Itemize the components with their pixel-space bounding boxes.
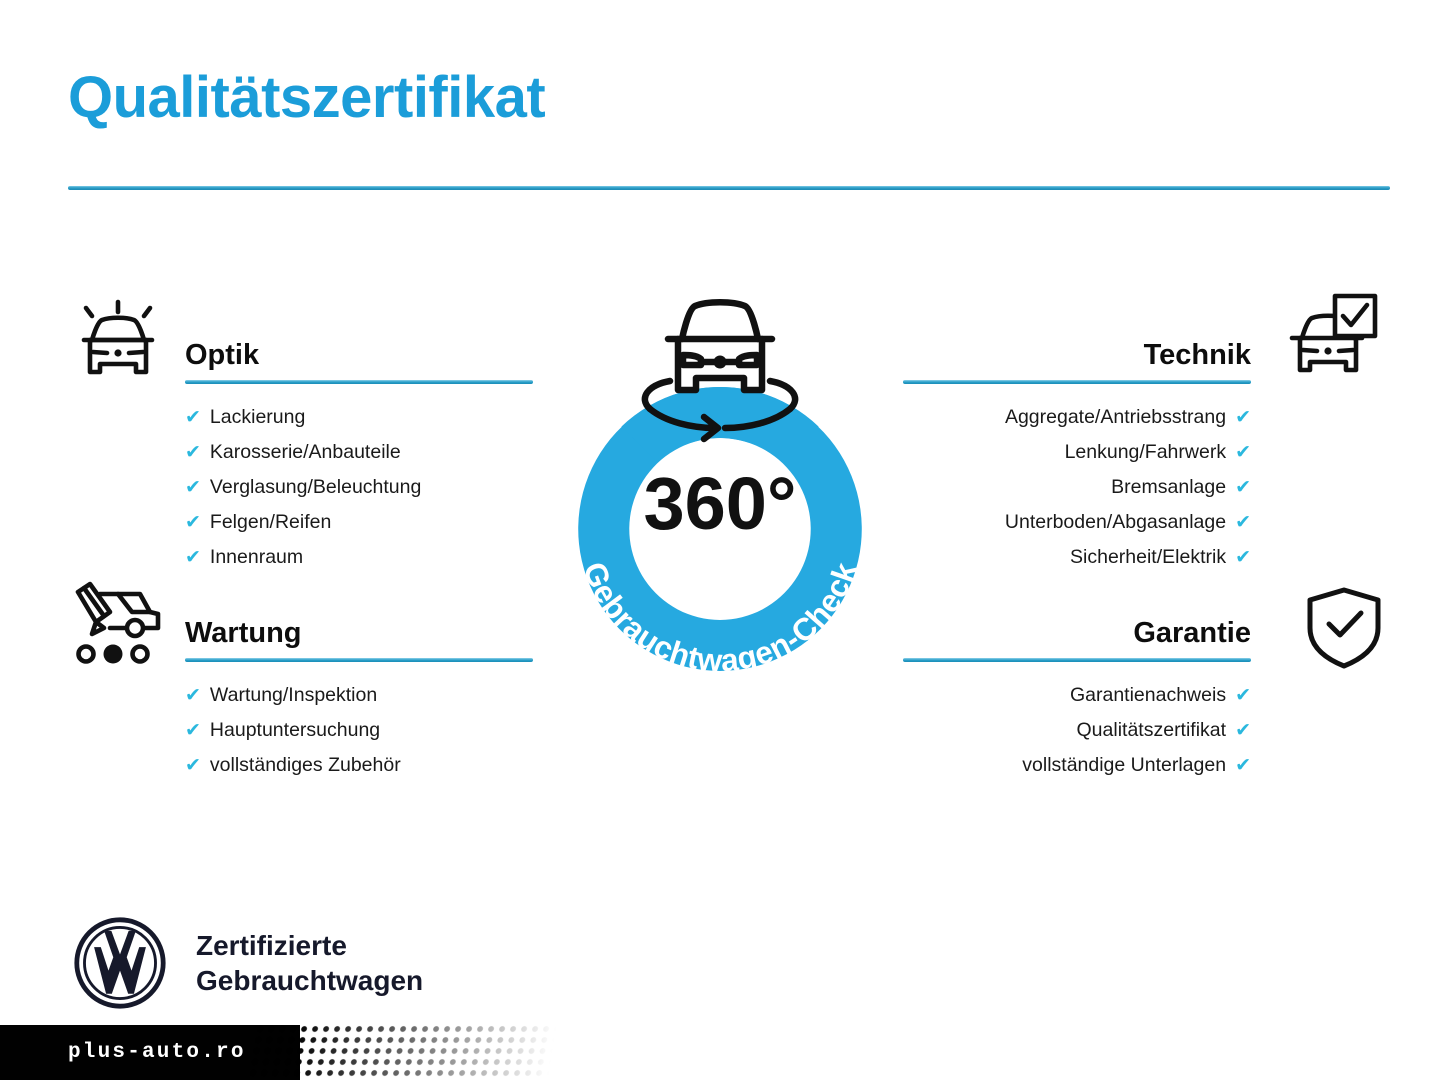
check-icon: ✔	[185, 471, 201, 505]
list-item: Aggregate/Antriebsstrang✔	[903, 400, 1251, 435]
list-item: ✔Innenraum	[185, 540, 533, 575]
page-title: Qualitätszertifikat	[68, 68, 545, 129]
list-item-label: vollständiges Zubehör	[210, 754, 401, 776]
section-divider	[185, 380, 533, 384]
list-item-label: Lenkung/Fahrwerk	[1065, 441, 1227, 463]
check-icon: ✔	[185, 436, 201, 470]
section-header: Technik	[903, 330, 1251, 384]
list-item: Lenkung/Fahrwerk✔	[903, 435, 1251, 470]
list-item: ✔Hauptuntersuchung	[185, 713, 533, 748]
list-item: ✔Wartung/Inspektion	[185, 678, 533, 713]
section-title: Garantie	[1133, 619, 1251, 648]
section-divider	[903, 380, 1251, 384]
header-divider	[68, 186, 1390, 190]
check-icon: ✔	[1235, 471, 1251, 505]
checklist-wartung: ✔Wartung/Inspektion ✔Hauptuntersuchung ✔…	[185, 662, 533, 783]
list-item: ✔Lackierung	[185, 400, 533, 435]
check-icon: ✔	[185, 401, 201, 435]
check-icon: ✔	[185, 714, 201, 748]
check-icon: ✔	[185, 506, 201, 540]
list-item-label: Lackierung	[210, 406, 305, 428]
list-item-label: Wartung/Inspektion	[210, 684, 377, 706]
section-header: Wartung	[185, 608, 533, 662]
list-item: vollständige Unterlagen✔	[903, 748, 1251, 783]
section-title: Technik	[1144, 341, 1251, 370]
list-item-label: Unterboden/Abgasanlage	[1005, 511, 1226, 533]
list-item: Bremsanlage✔	[903, 470, 1251, 505]
list-item-label: vollständige Unterlagen	[1022, 754, 1226, 776]
vw-logo-icon	[72, 915, 168, 1011]
check-icon: ✔	[1235, 749, 1251, 783]
list-item: Garantienachweis✔	[903, 678, 1251, 713]
list-item-label: Qualitätszertifikat	[1077, 719, 1227, 741]
list-item: ✔Verglasung/Beleuchtung	[185, 470, 533, 505]
car-checkbox-icon	[1278, 290, 1382, 382]
list-item-label: Innenraum	[210, 546, 303, 568]
list-item-label: Felgen/Reifen	[210, 511, 331, 533]
check-icon: ✔	[1235, 401, 1251, 435]
vw-brand-block: Zertifizierte Gebrauchtwagen	[72, 915, 423, 1011]
check-icon: ✔	[1235, 436, 1251, 470]
check-icon: ✔	[1235, 541, 1251, 575]
section-divider	[185, 658, 533, 662]
list-item-label: Aggregate/Antriebsstrang	[1005, 406, 1226, 428]
section-divider	[903, 658, 1251, 662]
check-icon: ✔	[185, 679, 201, 713]
checklist-technik: Aggregate/Antriebsstrang✔ Lenkung/Fahrwe…	[903, 384, 1251, 575]
pencil-car-icon	[66, 578, 170, 670]
vw-brand-text: Zertifizierte Gebrauchtwagen	[196, 928, 423, 999]
checklist-optik: ✔Lackierung ✔Karosserie/Anbauteile ✔Verg…	[185, 384, 533, 575]
list-item: ✔Felgen/Reifen	[185, 505, 533, 540]
list-item: ✔vollständiges Zubehör	[185, 748, 533, 783]
section-technik: Technik Aggregate/Antriebsstrang✔ Lenkun…	[903, 330, 1251, 575]
section-wartung: Wartung ✔Wartung/Inspektion ✔Hauptunters…	[185, 608, 533, 783]
list-item-label: Karosserie/Anbauteile	[210, 441, 401, 463]
check-icon: ✔	[1235, 506, 1251, 540]
list-item: Qualitätszertifikat✔	[903, 713, 1251, 748]
badge-360-check: Gebrauchtwagen-Check 360°	[520, 282, 920, 692]
list-item-label: Bremsanlage	[1111, 476, 1226, 498]
check-icon: ✔	[1235, 714, 1251, 748]
car-shine-icon	[66, 296, 170, 388]
footer-halftone-pattern	[248, 1025, 557, 1080]
shield-check-icon	[1292, 582, 1396, 674]
section-title: Wartung	[185, 619, 302, 648]
section-header: Optik	[185, 330, 533, 384]
section-garantie: Garantie Garantienachweis✔ Qualitätszert…	[903, 608, 1251, 783]
list-item-label: Verglasung/Beleuchtung	[210, 476, 421, 498]
section-header: Garantie	[903, 608, 1251, 662]
list-item-label: Garantienachweis	[1070, 684, 1226, 706]
section-optik: Optik ✔Lackierung ✔Karosserie/Anbauteile…	[185, 330, 533, 575]
list-item: Unterboden/Abgasanlage✔	[903, 505, 1251, 540]
section-title: Optik	[185, 341, 259, 370]
check-icon: ✔	[185, 541, 201, 575]
check-icon: ✔	[185, 749, 201, 783]
footer-site-label: plus-auto.ro	[68, 1041, 246, 1064]
checklist-garantie: Garantienachweis✔ Qualitätszertifikat✔ v…	[903, 662, 1251, 783]
list-item: Sicherheit/Elektrik✔	[903, 540, 1251, 575]
check-icon: ✔	[1235, 679, 1251, 713]
list-item-label: Hauptuntersuchung	[210, 719, 380, 741]
list-item-label: Sicherheit/Elektrik	[1070, 546, 1226, 568]
list-item: ✔Karosserie/Anbauteile	[185, 435, 533, 470]
badge-center-label: 360°	[643, 462, 796, 545]
